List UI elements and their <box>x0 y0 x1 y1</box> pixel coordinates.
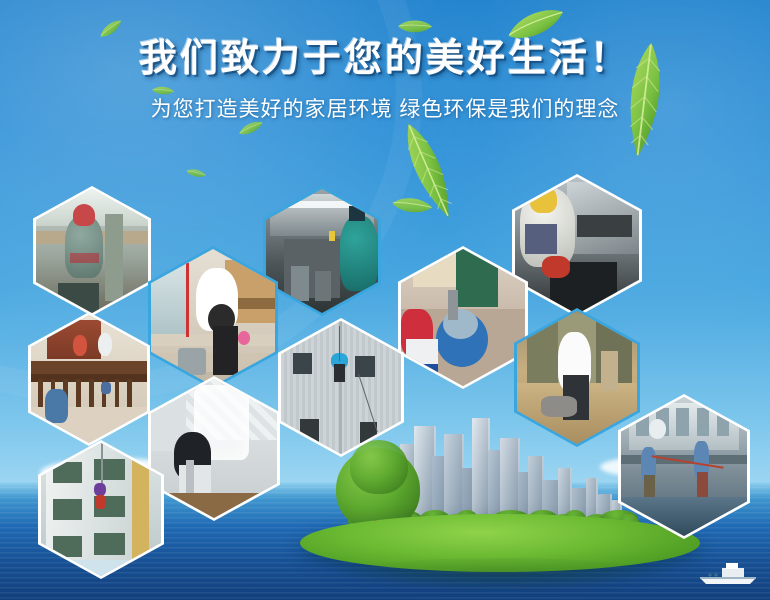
hex-tile-floor-polish[interactable] <box>514 308 640 447</box>
hex-tile-facade-drop[interactable] <box>38 440 164 579</box>
subheadline-container: 为您打造美好的家居环境 绿色环保是我们的理念 <box>0 95 770 125</box>
hex-tile-wall-demolition-photo <box>36 189 148 313</box>
hex-tile-carpet-machine-scene <box>401 249 525 386</box>
hex-tile-floor-polish-photo <box>517 311 637 444</box>
hex-tile-stair-mopping-scene <box>151 249 275 386</box>
hex-tile-wall-demolition[interactable] <box>33 186 151 316</box>
hex-tile-rope-access-photo <box>281 321 401 454</box>
hex-tile-roof-cleaning[interactable] <box>618 394 750 539</box>
hex-tile-roof-cleaning-photo <box>621 397 747 536</box>
hex-tile-kitchen-duct-scene <box>266 189 378 313</box>
hex-tile-railing-paint-photo <box>31 315 147 443</box>
hexagon-photo-grid <box>0 0 770 600</box>
hex-tile-chandelier-scene <box>151 379 277 518</box>
hex-tile-chandelier-photo <box>151 379 277 518</box>
hex-tile-carpet-machine[interactable] <box>398 246 528 389</box>
hex-tile-kitchen-duct[interactable] <box>263 186 381 316</box>
hex-tile-railing-paint-scene <box>31 315 147 443</box>
page-title: 我们致力于您的美好生活！ <box>139 36 631 82</box>
hex-tile-chandelier[interactable] <box>148 376 280 521</box>
page-subtitle: 为您打造美好的家居环境 绿色环保是我们的理念 <box>151 95 620 125</box>
hex-tile-facade-drop-photo <box>41 443 161 576</box>
hex-tile-roof-cleaning-scene <box>621 397 747 536</box>
hex-tile-hood-degrease-photo <box>515 177 639 314</box>
hex-tile-kitchen-duct-photo <box>266 189 378 313</box>
hex-tile-hood-degrease-scene <box>515 177 639 314</box>
hex-tile-floor-polish-scene <box>517 311 637 444</box>
hex-tile-hood-degrease[interactable] <box>512 174 642 317</box>
hex-tile-stair-mopping-photo <box>151 249 275 386</box>
hex-tile-stair-mopping[interactable] <box>148 246 278 389</box>
hex-tile-carpet-machine-photo <box>401 249 525 386</box>
hex-tile-rope-access-scene <box>281 321 401 454</box>
headline-container: 我们致力于您的美好生活！ <box>0 36 770 82</box>
hex-tile-wall-demolition-scene <box>36 189 148 313</box>
hex-tile-rope-access[interactable] <box>278 318 404 457</box>
hex-tile-facade-drop-scene <box>41 443 161 576</box>
promo-banner: 我们致力于您的美好生活！ 为您打造美好的家居环境 绿色环保是我们的理念 <box>0 0 770 600</box>
hex-tile-railing-paint[interactable] <box>28 312 150 446</box>
